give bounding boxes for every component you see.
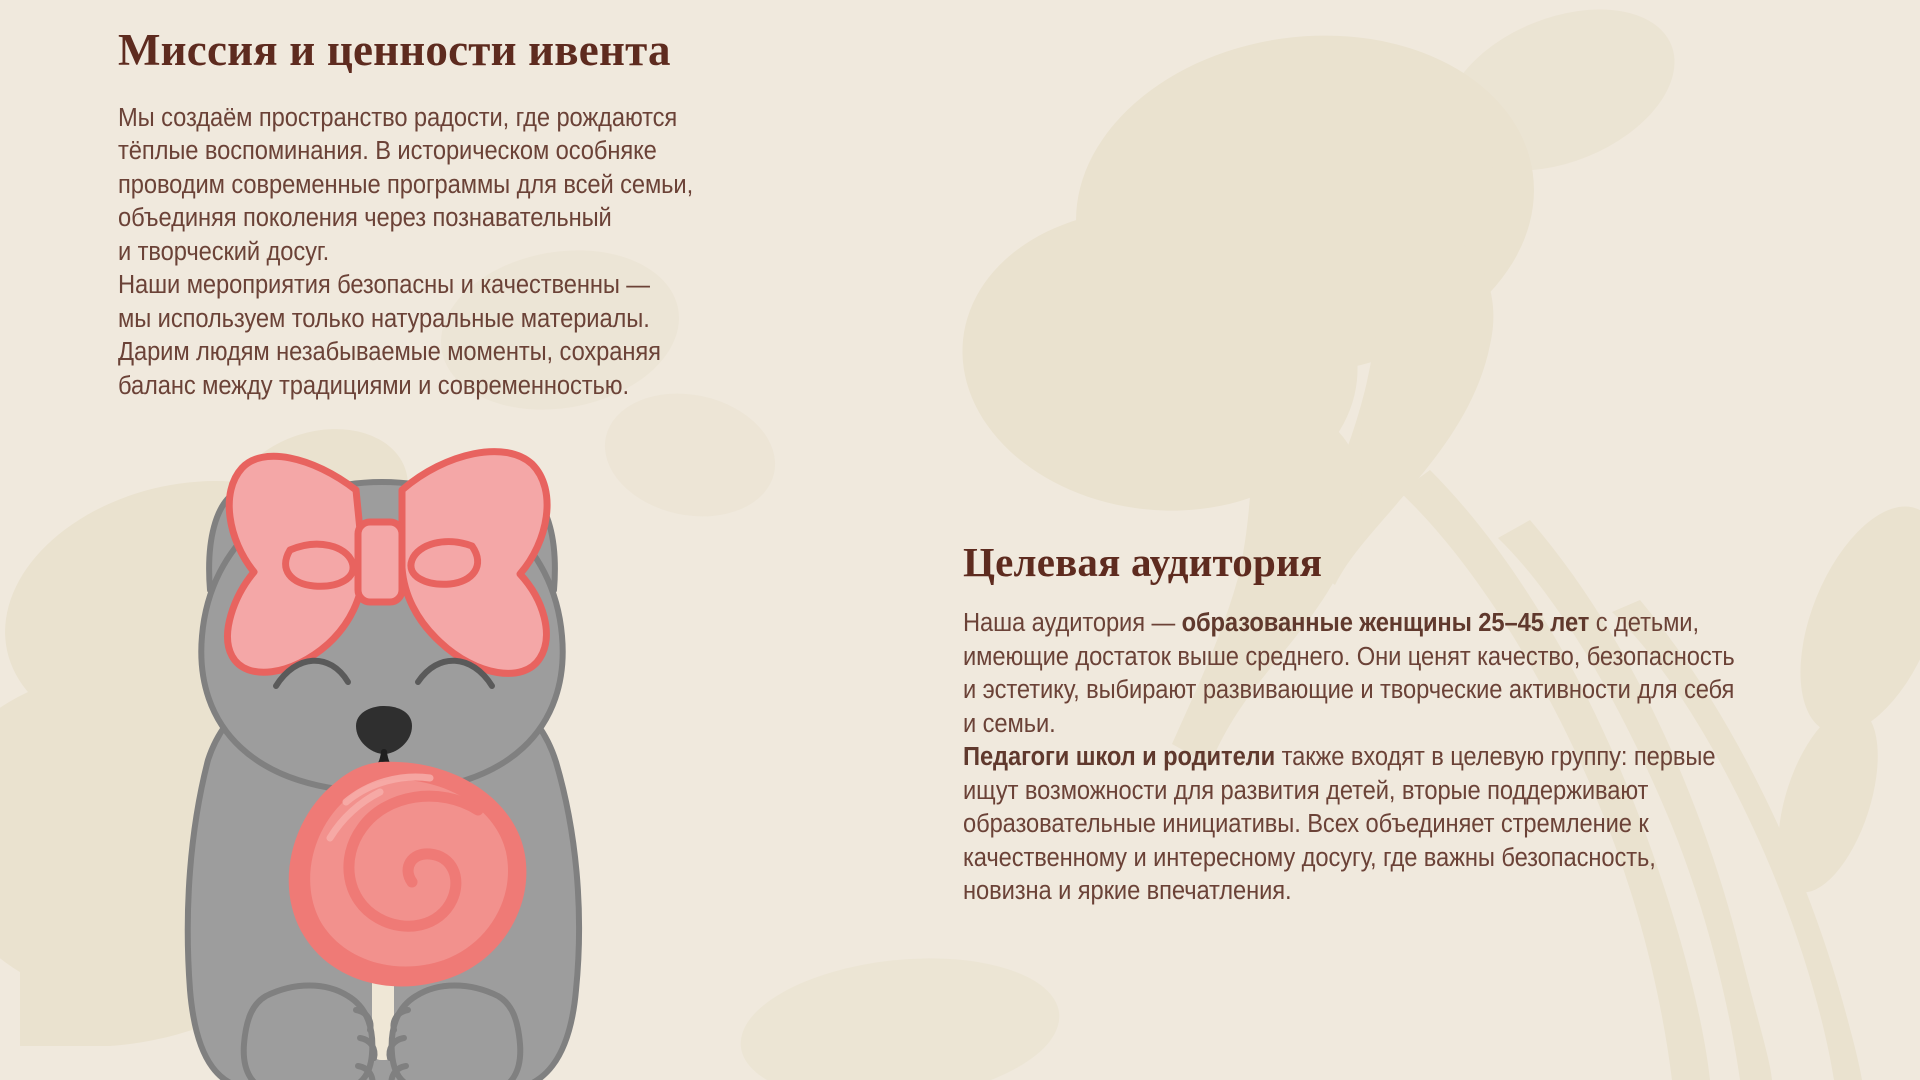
- mission-line: проводим современные программы для всей …: [118, 169, 881, 203]
- mission-body: Мы создаём пространство радости, где рож…: [118, 102, 881, 404]
- mission-line: Дарим людям незабываемые моменты, сохран…: [118, 336, 881, 370]
- audience-p2-highlight: Педагоги школ и родители: [963, 743, 1275, 771]
- cat-with-lollipop-illustration: [150, 430, 610, 1080]
- mission-line: Мы создаём пространство радости, где рож…: [118, 102, 881, 136]
- mission-line: мы используем только натуральные материа…: [118, 303, 881, 337]
- mission-line: и творческий досуг.: [118, 236, 881, 270]
- slide-canvas: Миссия и ценности ивента Мы создаём прос…: [0, 0, 1920, 1080]
- mission-line: баланс между традициями и современностью…: [118, 370, 881, 404]
- audience-body: Наша аудитория — образованные женщины 25…: [963, 607, 1735, 909]
- mission-title: Миссия и ценности ивента: [118, 26, 938, 76]
- audience-p1-highlight: образованные женщины 25–45 лет: [1182, 609, 1590, 637]
- mission-line: объединяя поколения через познавательный: [118, 202, 881, 236]
- mission-line: тёплые воспоминания. В историческом особ…: [118, 135, 881, 169]
- mission-section: Миссия и ценности ивента Мы создаём прос…: [118, 26, 938, 403]
- audience-title: Целевая аудитория: [963, 540, 1793, 585]
- audience-paragraph-1: Наша аудитория — образованные женщины 25…: [963, 607, 1735, 741]
- audience-p1-pre: Наша аудитория —: [963, 609, 1182, 637]
- mission-line: Наши мероприятия безопасны и качественны…: [118, 269, 881, 303]
- audience-paragraph-2: Педагоги школ и родители также входят в …: [963, 741, 1735, 909]
- audience-section: Целевая аудитория Наша аудитория — образ…: [963, 540, 1793, 909]
